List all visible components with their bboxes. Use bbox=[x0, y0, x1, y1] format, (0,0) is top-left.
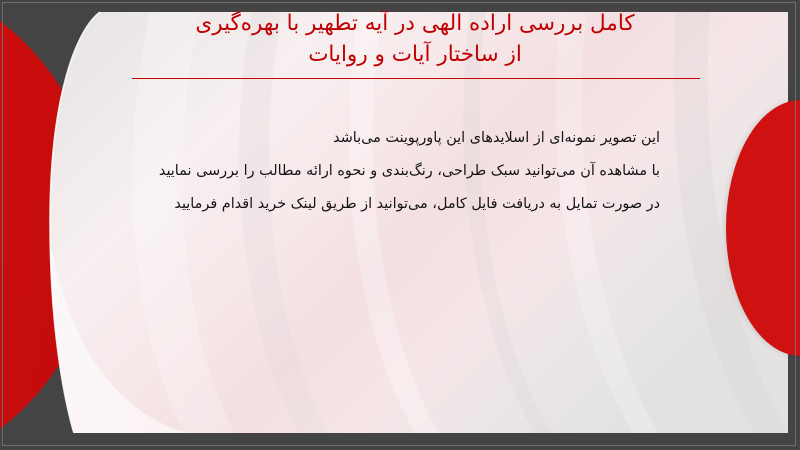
body-line-3: در صورت تمایل به دریافت فایل کامل، می‌تو… bbox=[120, 188, 660, 221]
presentation-slide: کامل بررسی اراده الهی در آیه تطهیر با به… bbox=[0, 0, 800, 450]
body-line-2: با مشاهده آن می‌توانید سبک طراحی، رنگ‌بن… bbox=[120, 155, 660, 188]
slide-title-line-2: از ساختار آیات و روایات bbox=[110, 39, 720, 70]
body-line-1: این تصویر نمونه‌ای از اسلایدهای این پاور… bbox=[120, 122, 660, 155]
slide-title-line-1: کامل بررسی اراده الهی در آیه تطهیر با به… bbox=[110, 8, 720, 39]
slide-title: کامل بررسی اراده الهی در آیه تطهیر با به… bbox=[110, 8, 720, 70]
title-underline bbox=[132, 78, 700, 79]
slide-body-text: این تصویر نمونه‌ای از اسلایدهای این پاور… bbox=[120, 122, 660, 221]
